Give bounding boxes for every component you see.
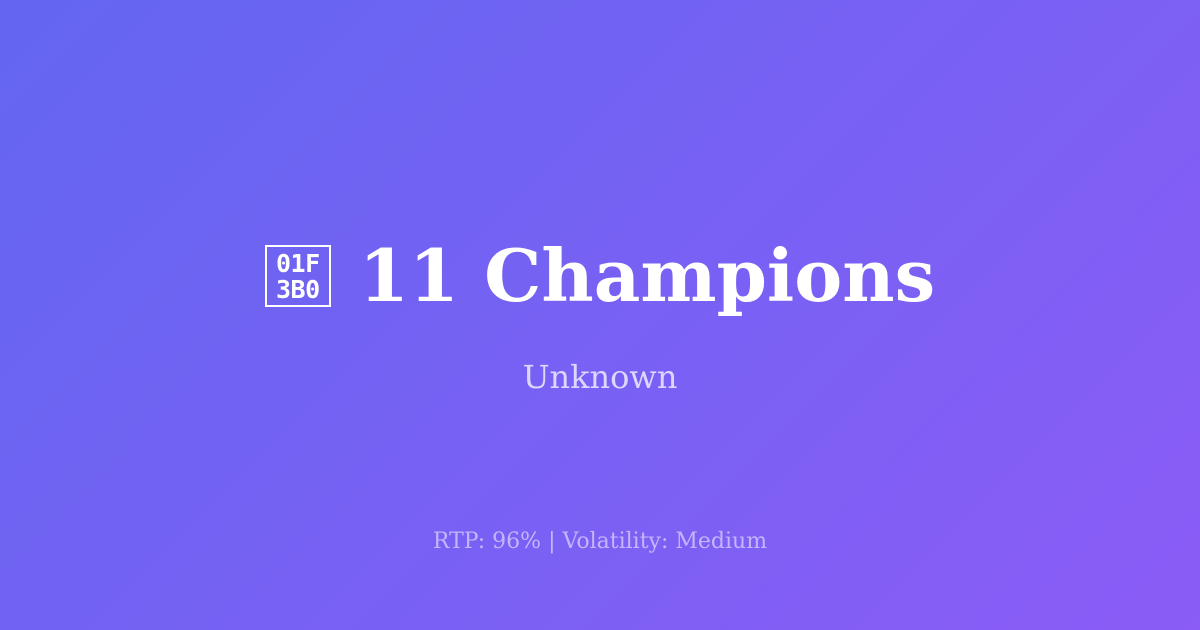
page-subtitle: Unknown: [523, 358, 678, 396]
slot-machine-icon: 01F 3B0: [265, 245, 331, 307]
hero-block: 01F 3B0 11 Champions Unknown: [0, 232, 1200, 396]
tofu-codepoint-upper: 01F: [276, 251, 320, 277]
game-stats-line: RTP: 96% | Volatility: Medium: [433, 528, 767, 556]
og-share-card: 01F 3B0 11 Champions Unknown RTP: 96% | …: [0, 0, 1200, 630]
footer-meta-row: RTP: 96% | Volatility: Medium: [0, 528, 1200, 556]
title-row: 01F 3B0 11 Champions: [265, 232, 935, 320]
tofu-codepoint-lower: 3B0: [276, 277, 320, 303]
page-title: 11 Champions: [359, 236, 935, 316]
